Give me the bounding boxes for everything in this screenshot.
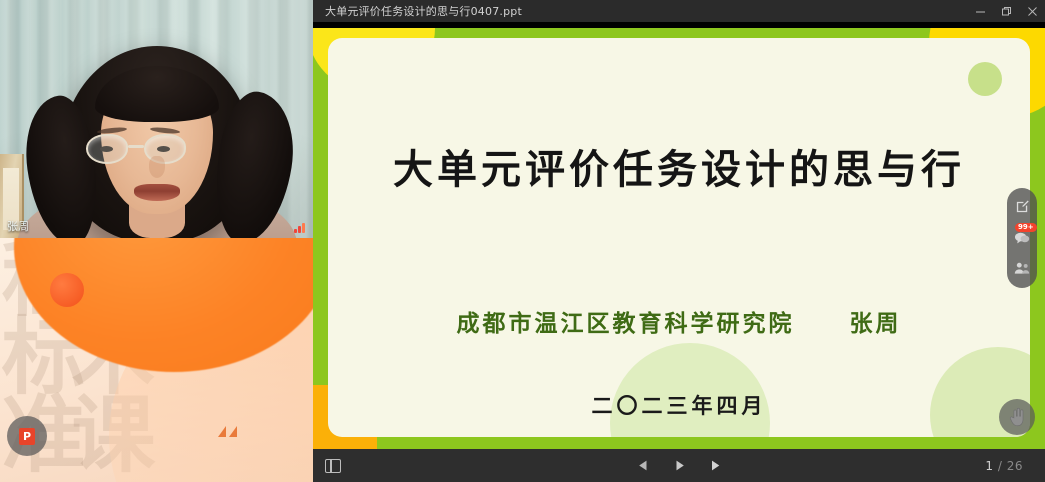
close-icon[interactable] [1019,0,1045,22]
app-root: 张周 艺术课程标准 P 大单元评价任务设计的思与行0407.ppt [0,0,1045,482]
viewer-toolbar: 1 / 26 [313,449,1045,482]
window-controls [967,0,1045,22]
tool-rail: 99+ [1007,188,1037,288]
document-viewer-window: 大单元评价任务设计的思与行0407.ppt [313,0,1045,482]
page-separator: / [998,459,1003,473]
chat-icon[interactable]: 99+ [1012,228,1032,246]
share-arrow-marks [218,426,237,437]
person-nose [149,156,165,178]
powerpoint-icon-letter: P [19,428,35,445]
window-titlebar: 大单元评价任务设计的思与行0407.ppt [313,0,1045,22]
video-tile-self[interactable]: 张周 [0,0,313,238]
slide-title: 大单元评价任务设计的思与行 [328,146,1030,194]
annotate-icon[interactable] [1012,197,1032,215]
video-panel: 张周 艺术课程标准 P [0,0,313,482]
slide-page: 大单元评价任务设计的思与行 成都市温江区教育科学研究院 张周 二〇二三年四月 [328,38,1030,437]
play-button[interactable] [671,458,687,474]
decor-green-circle-topright [968,62,1002,96]
video-name-badge: 张周 [5,219,31,234]
presentation-slide: 大单元评价任务设计的思与行 成都市温江区教育科学研究院 张周 二〇二三年四月 [313,28,1045,449]
sidebar-panel-icon[interactable] [325,459,341,473]
signal-bars-icon [294,222,307,233]
previous-page-button[interactable] [635,458,651,474]
minimize-icon[interactable] [967,0,993,22]
person-mouth [134,184,180,201]
raise-hand-button[interactable] [999,399,1035,435]
powerpoint-icon: P [7,416,47,456]
restore-icon[interactable] [993,0,1019,22]
page-current: 1 [985,459,993,473]
playback-controls [635,458,723,474]
page-total: 26 [1007,459,1023,473]
slide-subtitle: 成都市温江区教育科学研究院 张周 [328,304,1030,338]
glasses-lens-left [86,134,128,164]
chat-unread-badge: 99+ [1015,223,1037,232]
slide-date: 二〇二三年四月 [328,390,1030,420]
share-orange-dot [50,273,84,307]
glasses-bridge [128,145,144,148]
next-page-button[interactable] [707,458,723,474]
page-indicator: 1 / 26 [985,459,1023,473]
slide-stage: 大单元评价任务设计的思与行 成都市温江区教育科学研究院 张周 二〇二三年四月 [313,22,1045,449]
video-tile-screenshare[interactable]: 艺术课程标准 P [0,238,313,482]
participants-icon[interactable] [1012,259,1032,277]
window-title: 大单元评价任务设计的思与行0407.ppt [325,3,522,19]
